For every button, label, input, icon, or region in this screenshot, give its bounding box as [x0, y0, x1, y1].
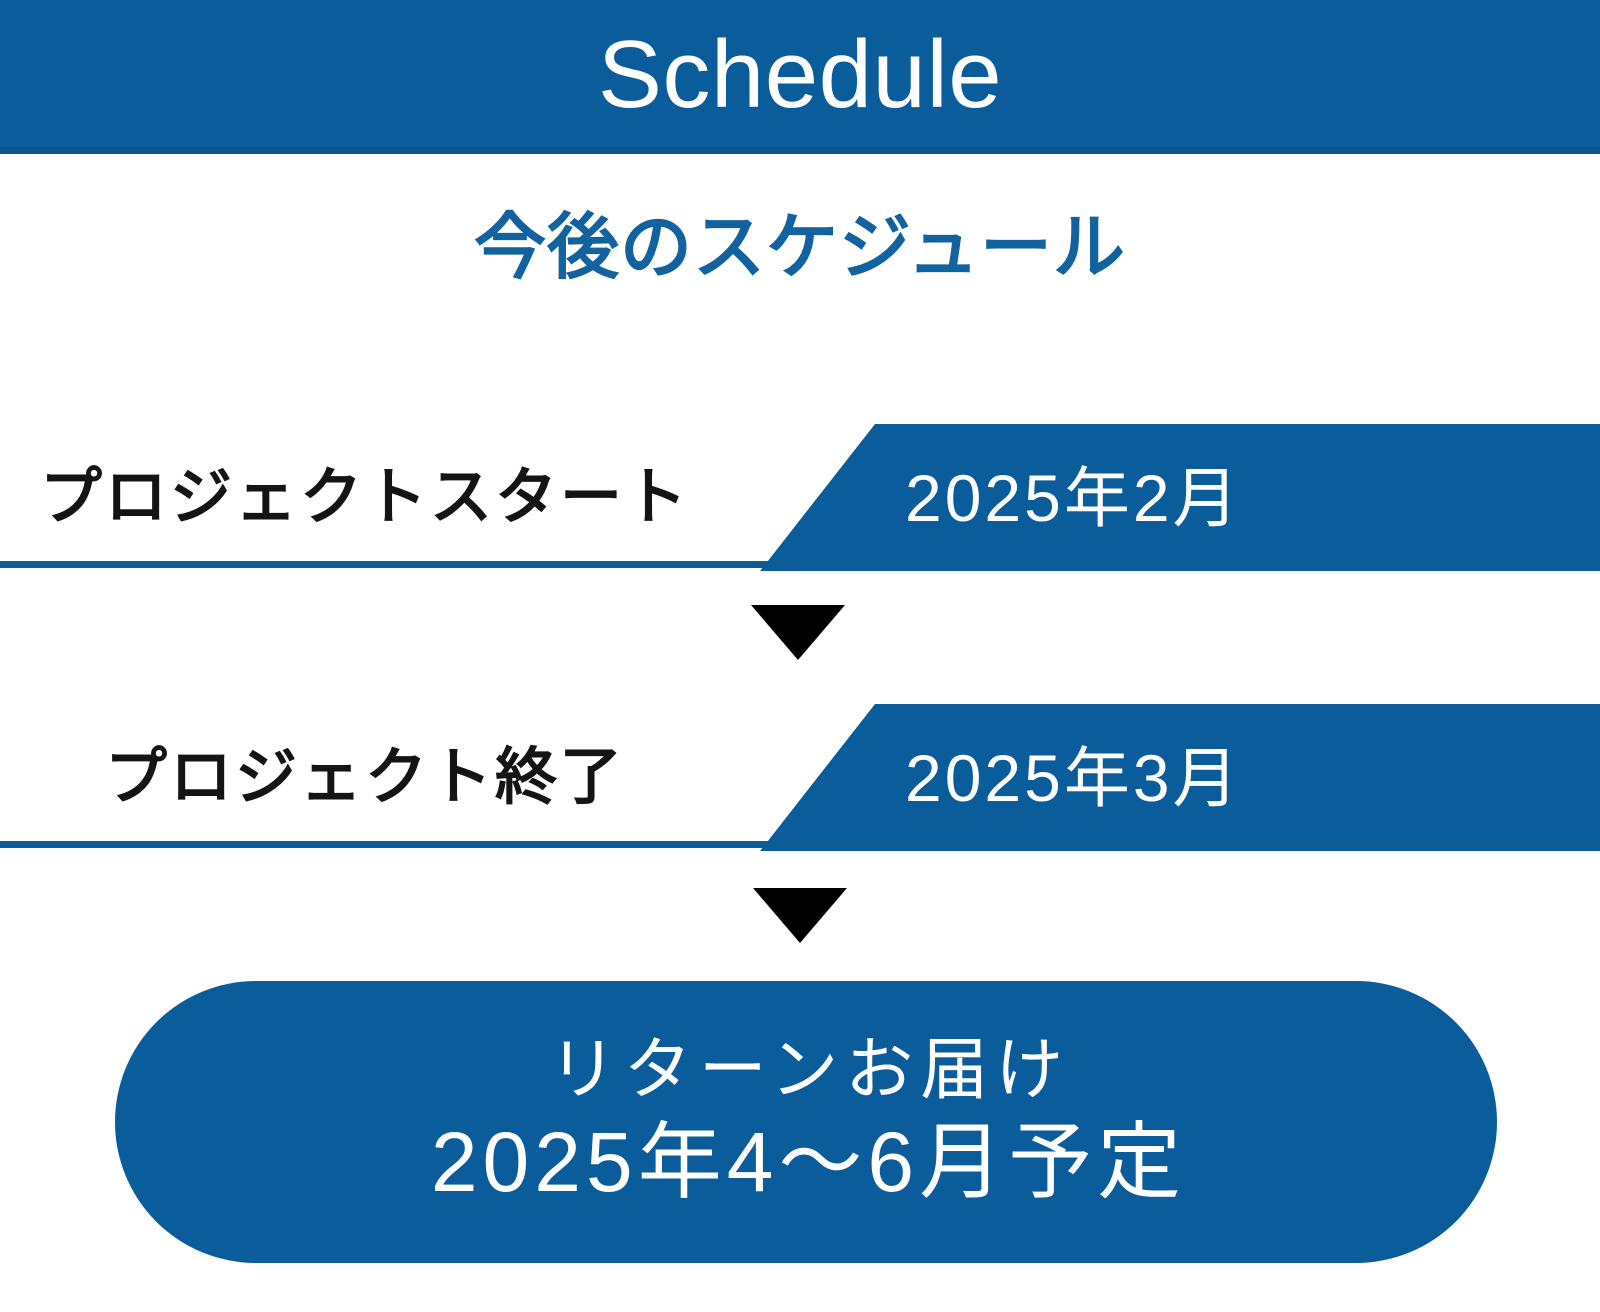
timeline-row-1-rule: [0, 561, 1600, 568]
reward-delivery-title: リターンお届け: [542, 1036, 1071, 1104]
down-arrow-icon-2: [753, 888, 847, 943]
reward-delivery-date: 2025年4〜6月予定: [426, 1120, 1186, 1204]
schedule-infographic: Schedule 今後のスケジュール プロジェクトスタート 2025年2月 プロ…: [0, 0, 1600, 1312]
timeline-row-2-value: 2025年3月: [905, 704, 1545, 851]
header-band: Schedule: [0, 0, 1600, 153]
timeline-row-2: プロジェクト終了 2025年3月: [0, 704, 1600, 851]
reward-delivery-pill: リターンお届け 2025年4〜6月予定: [115, 981, 1497, 1263]
down-arrow-icon-1: [751, 605, 845, 660]
timeline-row-1: プロジェクトスタート 2025年2月: [0, 424, 1600, 571]
timeline-row-1-label: プロジェクトスタート: [0, 424, 740, 571]
subtitle: 今後のスケジュール: [0, 212, 1600, 284]
timeline-row-2-label: プロジェクト終了: [0, 704, 740, 851]
timeline-row-1-value: 2025年2月: [905, 424, 1545, 571]
header-underline-divider: [0, 147, 1600, 154]
timeline-row-2-rule: [0, 841, 1600, 848]
page-title: Schedule: [598, 27, 1002, 123]
